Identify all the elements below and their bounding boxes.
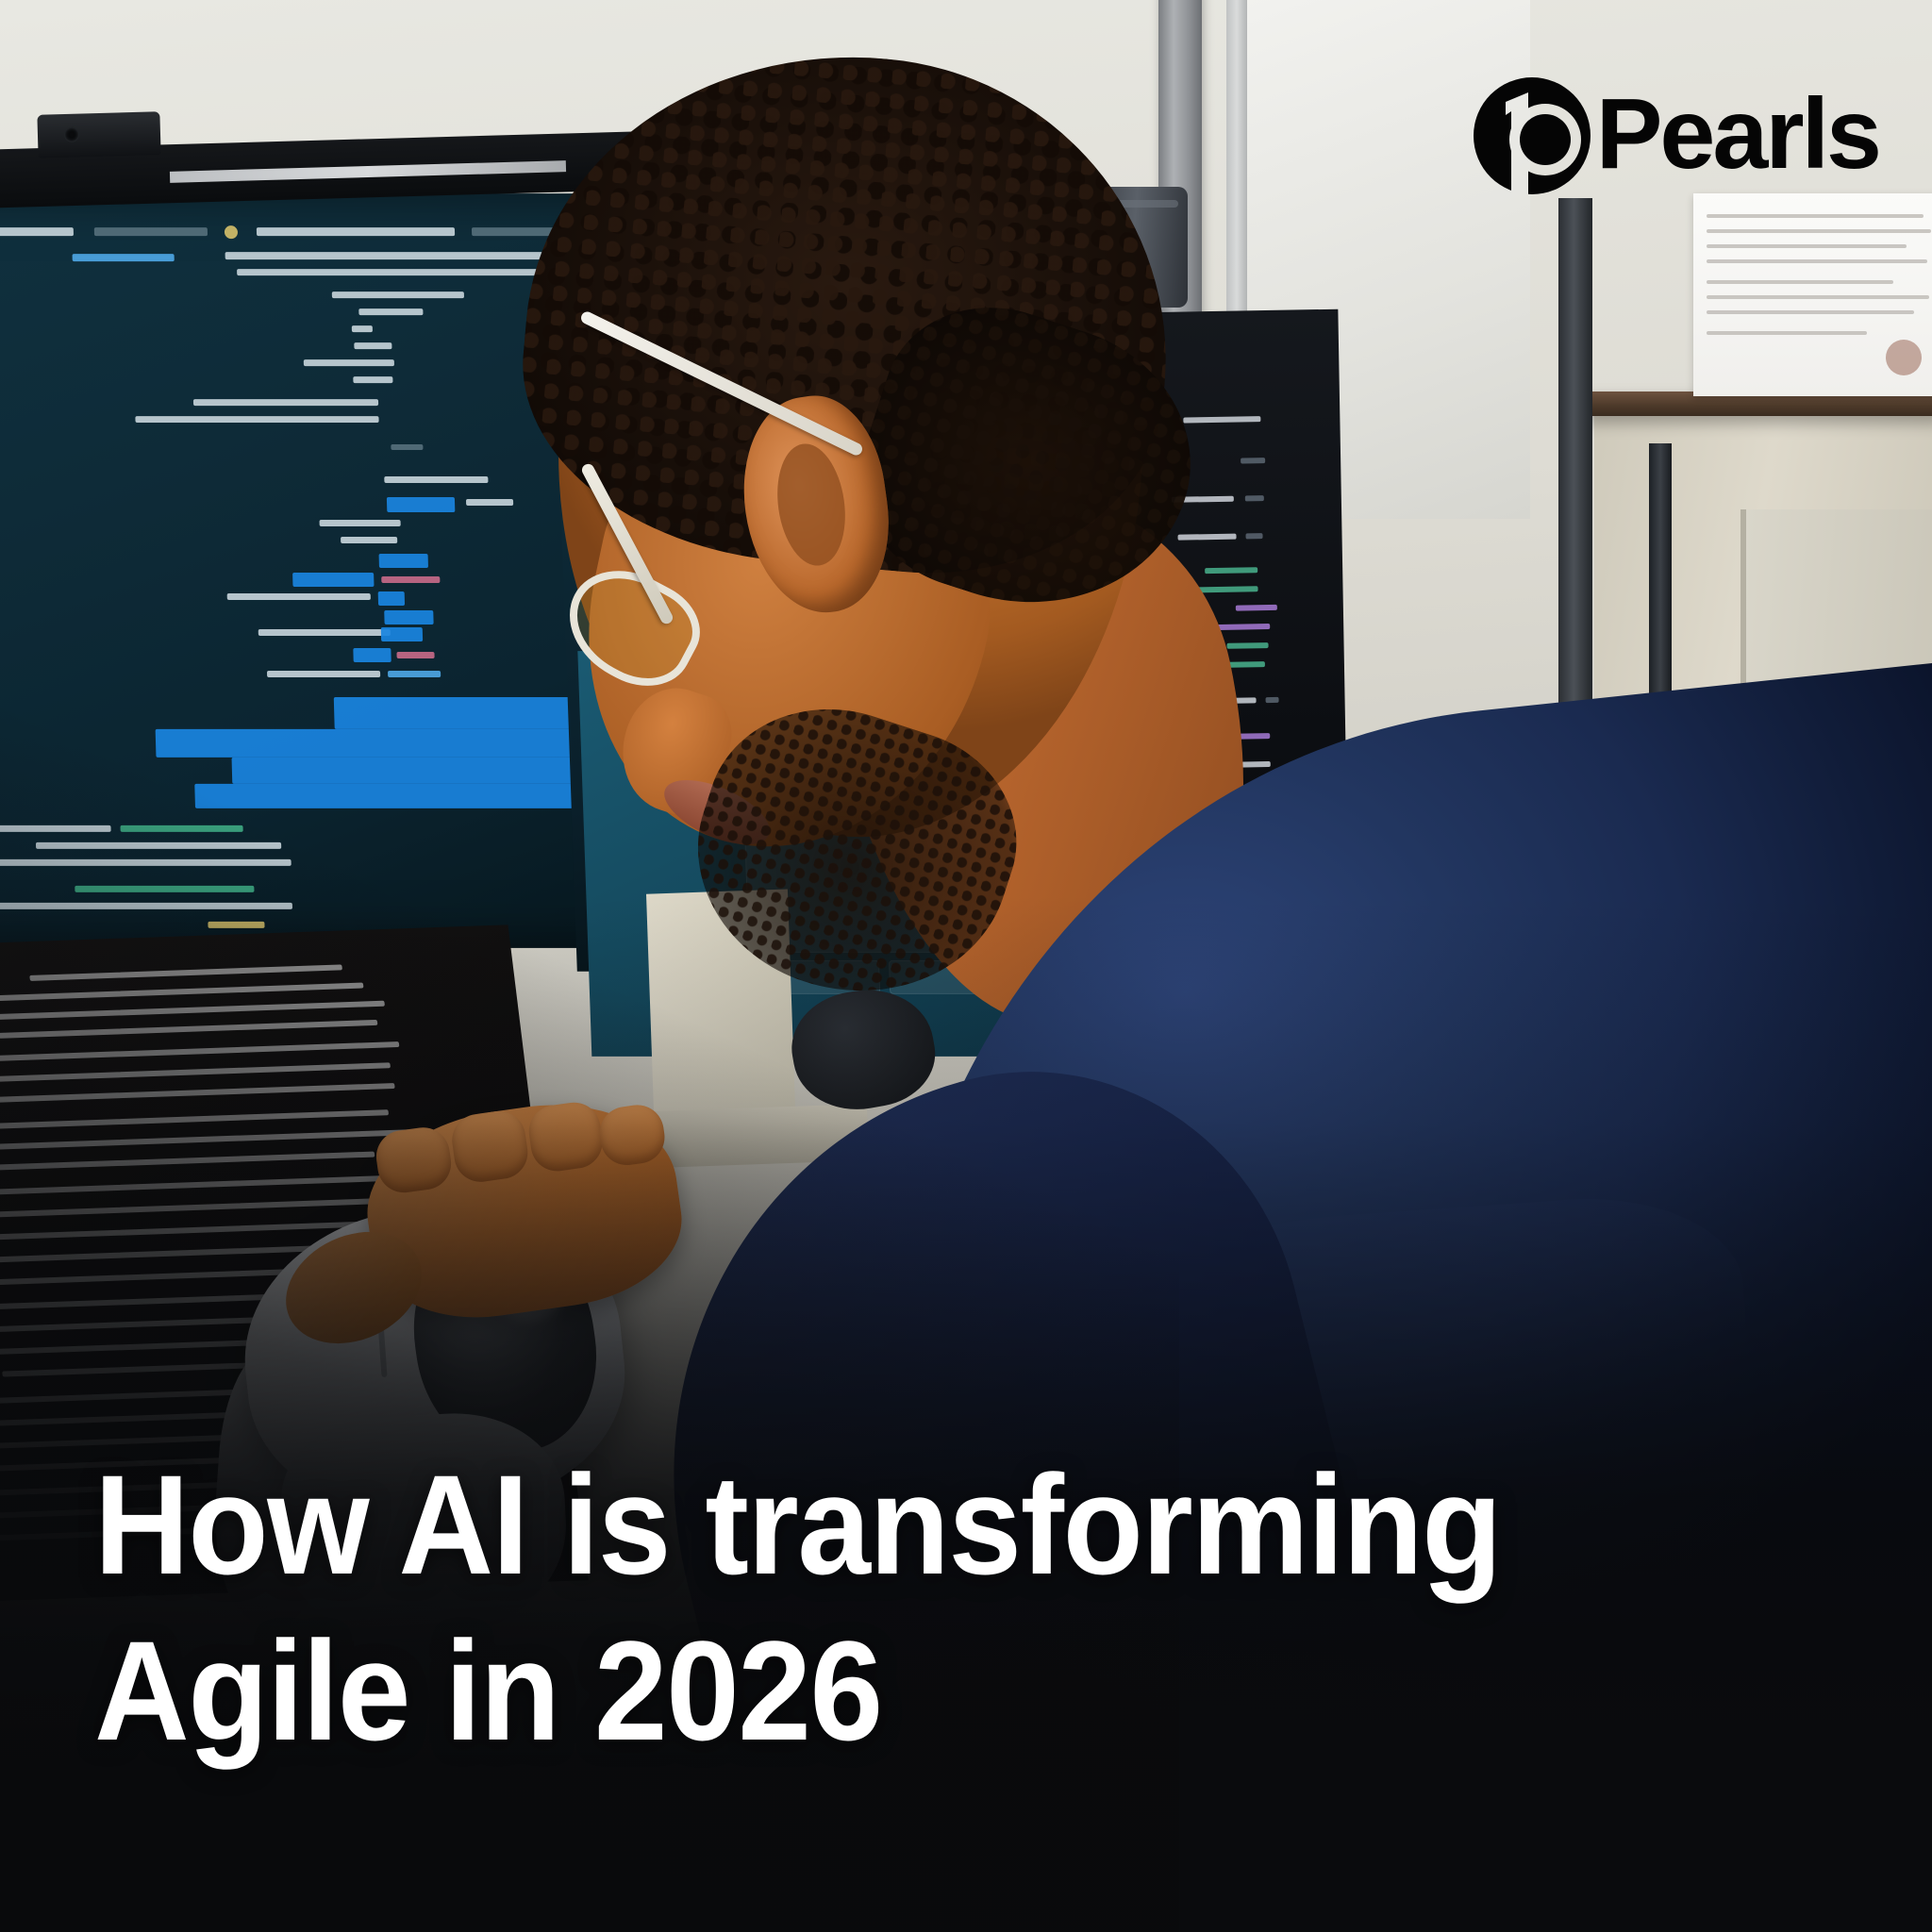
- headline-line-1: How AI is transforming: [94, 1445, 1501, 1604]
- brand-wordmark: Pearls: [1596, 84, 1879, 184]
- headline-line-2: Agile in 2026: [94, 1608, 1501, 1774]
- page-title: How AI is transforming Agile in 2026: [94, 1442, 1501, 1774]
- brand-logo[interactable]: Pearls: [1474, 74, 1879, 194]
- article-hero-card: Pearls How AI is transforming Agile in 2…: [0, 0, 1932, 1932]
- tenpearls-mark-icon: [1474, 74, 1594, 194]
